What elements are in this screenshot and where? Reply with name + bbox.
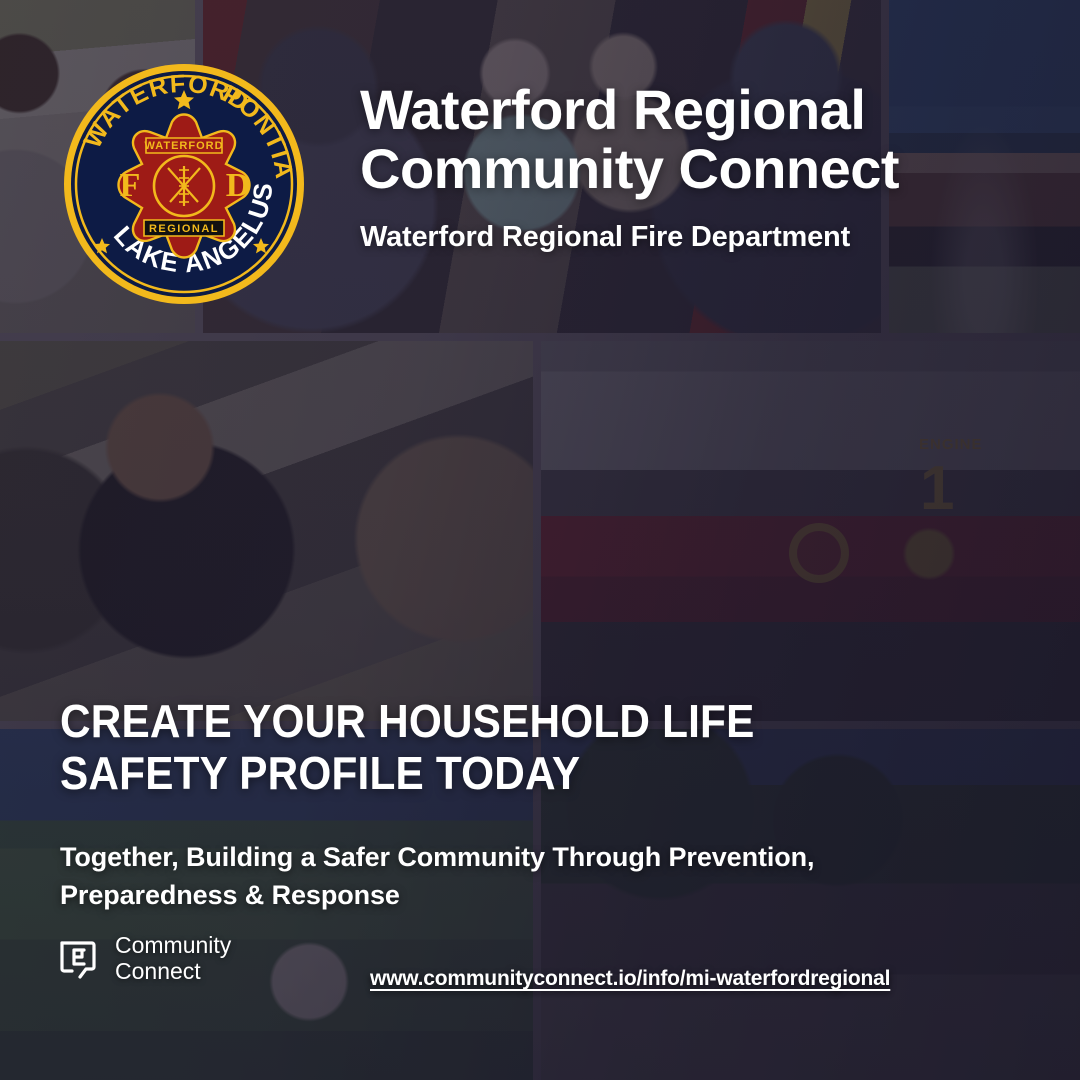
title-line-1: Waterford Regional [360,78,865,141]
photo-firefighter-at-table [0,341,533,721]
subheading: Together, Building a Safer Community Thr… [60,838,940,915]
brand-line-1: Community [115,932,231,958]
crest-letter-d: D [226,167,251,204]
crest-banner-regional: REGIONAL [149,223,219,235]
community-connect-logo: Community Connect [58,933,231,985]
community-connect-url-link[interactable]: www.communityconnect.io/info/mi-waterfor… [370,967,890,991]
headline: CREATE YOUR HOUSEHOLD LIFE SAFETY PROFIL… [60,696,888,799]
page-subtitle: Waterford Regional Fire Department [360,221,960,254]
title-line-2: Community Connect [360,137,899,200]
page-title: Waterford Regional Community Connect [360,80,960,199]
engine-number: 1 [920,454,954,523]
brand-line-2: Connect [115,958,201,984]
engine-label: ENGINE [919,436,983,453]
headline-line-2: SAFETY PROFILE TODAY [60,747,580,799]
community-connect-speech-bubble-icon [58,937,102,981]
crest-banner-waterford: WATERFORD [144,140,223,152]
header-band: WATERFORD PONTIAC LAKE ANGELUS [0,0,1080,340]
community-connect-wordmark: Community Connect [115,933,231,985]
crest-letter-f: F [120,167,141,204]
photo-fire-engine-one: ENGINE 1 [541,341,1080,721]
lower-content: CREATE YOUR HOUSEHOLD LIFE SAFETY PROFIL… [0,690,1080,1080]
title-block: Waterford Regional Community Connect Wat… [360,80,960,254]
community-connect-promo-graphic: ENGINE 1 WATERFORD PONTIAC [0,0,1080,1080]
fire-department-crest-icon: WATERFORD PONTIAC LAKE ANGELUS [62,62,306,306]
headline-line-1: CREATE YOUR HOUSEHOLD LIFE [60,695,754,747]
